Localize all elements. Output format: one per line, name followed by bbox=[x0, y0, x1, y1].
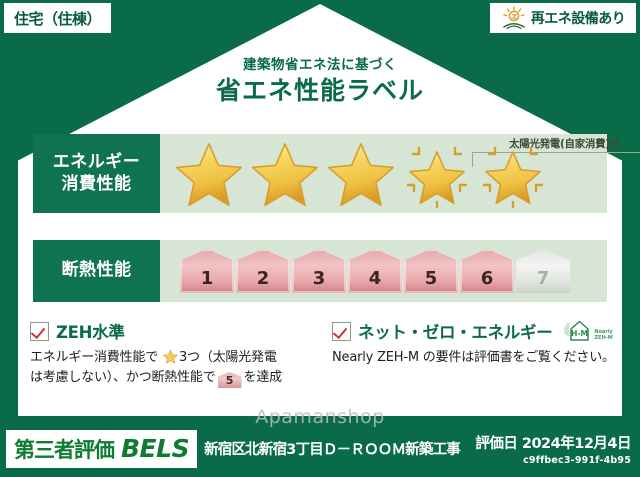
net-zero-energy-panel: ネット・ゼロ・エネルギー H-M Nearly ZEH-M Nearly ZEH… bbox=[332, 320, 622, 368]
star-icon bbox=[326, 140, 396, 208]
insulation-row-label: 断熱性能 bbox=[33, 240, 160, 302]
footer-bar: 第三者評価 BELS 新宿区北新宿3丁目Ｄ－ＲＯＯＭ新築工事 評価日 2024年… bbox=[0, 420, 640, 477]
insulation-badge-5: 5 bbox=[404, 249, 458, 293]
zeh-m-logo-subtext: Nearly ZEH-M bbox=[594, 330, 612, 344]
insulation-badge-6: 6 bbox=[460, 249, 514, 293]
star-5-solar bbox=[476, 138, 550, 210]
zeh-body-part3: は考慮しない）、かつ断熱性能で bbox=[30, 370, 216, 385]
star-icon bbox=[174, 140, 244, 208]
building-type-chip: 住宅（住棟） bbox=[4, 3, 111, 33]
label-heading: 建築物省エネ法に基づく 省エネ性能ラベル bbox=[0, 57, 640, 108]
evaluation-meta: 評価日 2024年12月4日 c9ffbec3-991f-4b95 bbox=[475, 432, 631, 466]
project-name: 新宿区北新宿3丁目Ｄ－ＲＯＯＭ新築工事 bbox=[204, 438, 460, 459]
star-rating-group bbox=[172, 138, 550, 210]
zeh-m-house-icon: H-M bbox=[562, 318, 592, 344]
insulation-badge-3: 3 bbox=[292, 249, 346, 293]
check-icon bbox=[332, 322, 351, 341]
star-solar-icon bbox=[402, 140, 472, 208]
renewable-equipment-chip: ヱ 再エネ設備あり bbox=[490, 3, 636, 33]
evaluation-date: 評価日 2024年12月4日 bbox=[475, 432, 631, 453]
net-zero-energy-body: Nearly ZEH-M の要件は評価書をご覧ください。 bbox=[332, 348, 622, 368]
energy-performance-row: エネルギー 消費性能 太陽光発電(自家消費)分 bbox=[33, 134, 607, 213]
building-type-label: 住宅（住棟） bbox=[14, 8, 101, 29]
insulation-badge-2: 2 bbox=[236, 249, 290, 293]
star-4-solar bbox=[400, 138, 474, 210]
energy-performance-row-label: エネルギー 消費性能 bbox=[33, 134, 160, 213]
insulation-badge-group: 1 2 3 4 5 6 7 bbox=[180, 249, 570, 293]
star-icon bbox=[250, 140, 320, 208]
svg-text:ヱ: ヱ bbox=[511, 14, 517, 21]
insulation-performance-row: 断熱性能 1 2 3 4 5 6 7 bbox=[33, 240, 607, 302]
zeh-m-logo: H-M Nearly ZEH-M bbox=[562, 318, 612, 344]
insulation-badge-7: 7 bbox=[516, 249, 570, 293]
bels-japanese-label: 第三者評価 bbox=[14, 434, 114, 464]
zeh-m-sub-line2: ZEH-M bbox=[594, 335, 612, 341]
zeh-standard-panel: ZEH水準 エネルギー消費性能で 3つ（太陽光発電 は考慮しない）、かつ断熱性能… bbox=[30, 320, 320, 388]
insulation-badge-1: 1 bbox=[180, 249, 234, 293]
energy-label-line2: 消費性能 bbox=[62, 174, 132, 196]
evaluation-id: c9ffbec3-991f-4b95 bbox=[475, 455, 631, 466]
zeh-standard-body: エネルギー消費性能で 3つ（太陽光発電 は考慮しない）、かつ断熱性能で5を達成 bbox=[30, 348, 320, 388]
renewable-equipment-label: 再エネ設備あり bbox=[531, 8, 626, 28]
insulation-label-text: 断熱性能 bbox=[62, 260, 132, 282]
star-1 bbox=[172, 138, 246, 210]
insulation-badge-4: 4 bbox=[348, 249, 402, 293]
zeh-standard-header: ZEH水準 bbox=[30, 320, 320, 342]
net-zero-energy-title: ネット・ゼロ・エネルギー bbox=[358, 319, 552, 343]
star-2 bbox=[248, 138, 322, 210]
heading-main-title: 省エネ性能ラベル bbox=[0, 75, 640, 108]
bels-english-label: BELS bbox=[121, 434, 189, 463]
zeh-body-part2: 3つ（太陽光発電 bbox=[179, 350, 277, 365]
insulation-row-body: 1 2 3 4 5 6 7 bbox=[160, 240, 607, 302]
zeh-body-part4: を達成 bbox=[244, 370, 282, 385]
check-icon bbox=[30, 322, 49, 341]
energy-label-line1: エネルギー bbox=[53, 152, 141, 174]
energy-performance-row-body: 太陽光発電(自家消費)分 bbox=[160, 134, 607, 213]
heading-subtitle: 建築物省エネ法に基づく bbox=[0, 57, 640, 73]
sun-solar-icon: ヱ bbox=[501, 6, 527, 30]
zeh-standard-title: ZEH水準 bbox=[56, 319, 125, 343]
net-zero-energy-header: ネット・ゼロ・エネルギー H-M Nearly ZEH-M bbox=[332, 320, 622, 342]
zeh-body-part1: エネルギー消費性能で bbox=[30, 350, 158, 365]
star-icon bbox=[163, 349, 178, 364]
star-solar-icon bbox=[478, 140, 548, 208]
star-3 bbox=[324, 138, 398, 210]
inline-insulation-badge: 5 bbox=[218, 372, 242, 388]
energy-performance-label: 住宅（住棟） ヱ 再エネ設備あり 建築物省エネ法に基づく 省エネ性能ラベル エネ… bbox=[0, 0, 640, 477]
svg-text:H-M: H-M bbox=[571, 329, 588, 338]
bels-badge: 第三者評価 BELS bbox=[6, 430, 197, 468]
